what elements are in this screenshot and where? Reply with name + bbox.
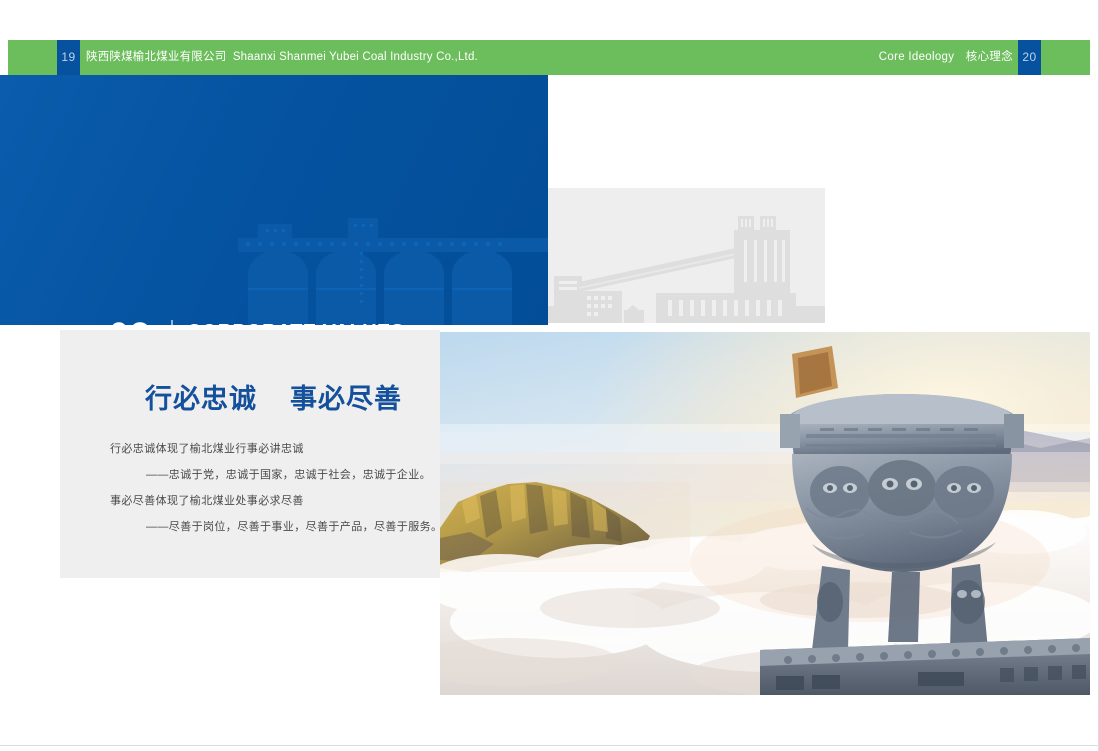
section-blue-panel: 03 CORPORATE VALUES 企业价值观 — [0, 75, 548, 325]
page-number-right: 20 — [1018, 40, 1041, 75]
body-line: 行必忠诚体现了榆北煤业行事必讲忠诚 — [110, 436, 420, 462]
header-company: 陕西陕煤榆北煤业有限公司 Shaanxi Shanmei Yubei Coal … — [86, 40, 478, 75]
section-text: CORPORATE VALUES 企业价值观 — [187, 318, 440, 325]
content-headline: 行必忠诚 事必尽善 — [145, 377, 402, 416]
page-border-bottom — [0, 745, 1099, 746]
headline-part-1: 行必忠诚 — [145, 384, 257, 414]
body-line: 事必尽善体现了榆北煤业处事必求尽善 — [110, 488, 420, 514]
section-title-group: 03 CORPORATE VALUES 企业价值观 — [108, 318, 440, 325]
header-company-cn: 陕西陕煤榆北煤业有限公司 — [86, 51, 226, 63]
page-number-left: 19 — [57, 40, 80, 75]
watermark-panel — [548, 188, 825, 323]
industrial-plant-silhouette-icon — [548, 188, 825, 323]
silo-plant-silhouette-icon — [238, 200, 548, 325]
headline-part-2: 事必尽善 — [290, 384, 402, 414]
section-number: 03 — [108, 318, 150, 325]
photo-illustration — [440, 332, 1090, 695]
header-section-en: Core Ideology — [879, 51, 955, 63]
header-section-label: Core Ideology 核心理念 — [879, 40, 1013, 75]
slide-canvas: 19 陕西陕煤榆北煤业有限公司 Shaanxi Shanmei Yubei Co… — [0, 0, 1099, 751]
photo-bronze-ding-sea-of-clouds — [440, 332, 1090, 695]
header-company-en: Shaanxi Shanmei Yubei Coal Industry Co.,… — [233, 51, 478, 63]
section-bracket-vertical — [171, 320, 173, 325]
section-number-wrap: 03 — [108, 318, 173, 325]
header-section-cn: 核心理念 — [966, 51, 1013, 63]
body-line: ——尽善于岗位，尽善于事业，尽善于产品，尽善于服务。 — [110, 514, 420, 540]
body-line: ——忠诚于党，忠诚于国家，忠诚于社会，忠诚于企业。 — [110, 462, 420, 488]
content-body: 行必忠诚体现了榆北煤业行事必讲忠诚 ——忠诚于党，忠诚于国家，忠诚于社会，忠诚于… — [110, 436, 420, 540]
section-title-en: CORPORATE VALUES — [187, 320, 404, 325]
